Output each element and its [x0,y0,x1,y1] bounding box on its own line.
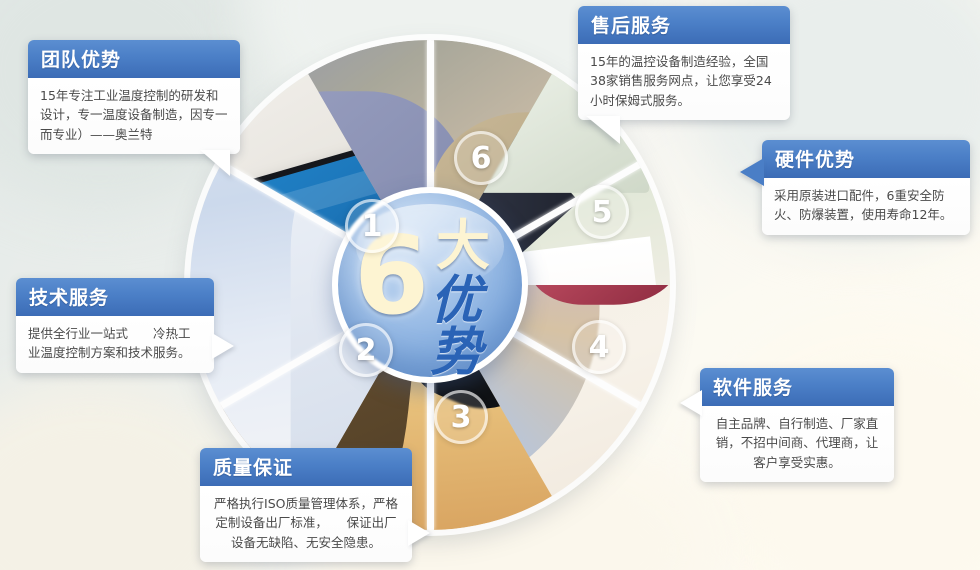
callout-team-title: 团队优势 [28,40,240,78]
callout-quality-text: 严格执行ISO质量管理体系，严格定制设备出厂标准， 保证出厂设备无缺陷、无安全隐… [200,486,412,562]
center-word: 优势 [430,275,522,379]
callout-team-text: 15年专注工业温度控制的研发和设计，专一温度设备制造，因专一而专业）——奥兰特 [28,78,240,154]
callout-aftersales-service[interactable]: 售后服务 15年的温控设备制造经验，全国38家销售服务网点，让您享受24小时保姆… [578,6,790,120]
callout-software-service[interactable]: 软件服务 自主品牌、自行制造、厂家直销，不招中间商、代理商，让客户享受实惠。 [700,368,894,482]
callout-team-tail [200,150,230,176]
callout-technical-tail [212,333,234,359]
callout-software-text: 自主品牌、自行制造、厂家直销，不招中间商、代理商，让客户享受实惠。 [700,406,894,482]
callout-hardware-text: 采用原装进口配件，6重安全防火、防爆装置，使用寿命12年。 [762,178,970,235]
callout-software-title: 软件服务 [700,368,894,406]
callout-technical-title: 技术服务 [16,278,214,316]
center-unit: 大 [436,219,490,273]
callout-aftersales-tail [586,116,620,144]
callout-aftersales-text: 15年的温控设备制造经验，全国38家销售服务网点，让您享受24小时保姆式服务。 [578,44,790,120]
callout-technical-service[interactable]: 技术服务 提供全行业一站式 冷热工业温度控制方案和技术服务。 [16,278,214,373]
segment-number-3[interactable]: 3 [434,390,488,444]
callout-quality-tail [408,520,430,546]
callout-hardware-advantage[interactable]: 硬件优势 采用原装进口配件，6重安全防火、防爆装置，使用寿命12年。 [762,140,970,235]
segment-number-2[interactable]: 2 [339,323,393,377]
callout-hardware-tail [740,158,764,186]
callout-quality-title: 质量保证 [200,448,412,486]
callout-aftersales-title: 售后服务 [578,6,790,44]
callout-hardware-title: 硬件优势 [762,140,970,178]
segment-number-5[interactable]: 5 [575,185,629,239]
infographic-canvas: 6 大 优势 1 2 3 4 5 6 团队优势 15年专注工业温度控制的研发和设… [0,0,980,570]
callout-quality-assurance[interactable]: 质量保证 严格执行ISO质量管理体系，严格定制设备出厂标准， 保证出厂设备无缺陷… [200,448,412,562]
segment-number-1[interactable]: 1 [345,199,399,253]
callout-technical-text: 提供全行业一站式 冷热工业温度控制方案和技术服务。 [16,316,214,373]
segment-number-4[interactable]: 4 [572,320,626,374]
callout-team-advantage[interactable]: 团队优势 15年专注工业温度控制的研发和设计，专一温度设备制造，因专一而专业）—… [28,40,240,154]
callout-software-tail [680,390,702,416]
segment-number-6[interactable]: 6 [454,131,508,185]
